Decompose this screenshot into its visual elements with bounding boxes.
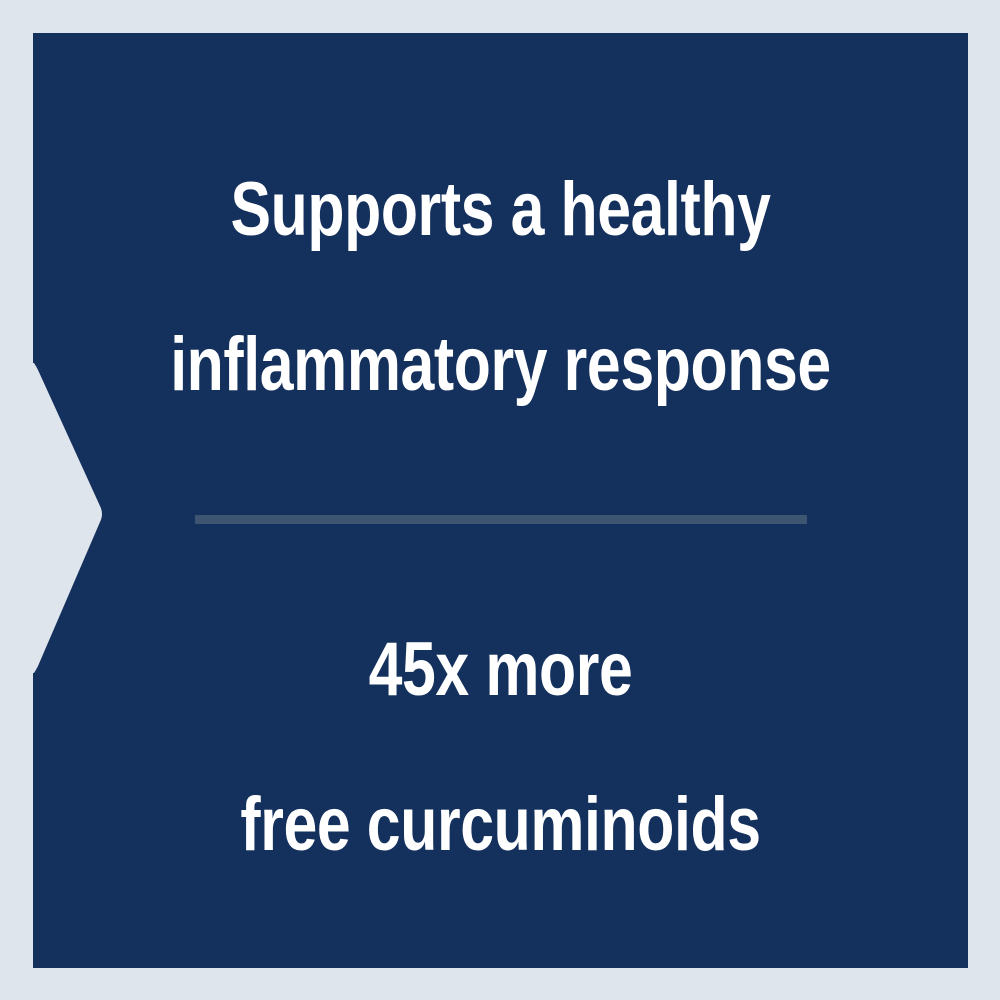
benefit-claim-line: Supports a healthy — [127, 171, 875, 249]
section-divider — [195, 515, 807, 524]
benefit-claim-line: 45x more — [127, 631, 875, 709]
benefits-panel: Supports a healthy inflammatory response… — [33, 33, 968, 968]
benefit-claim-line: free curcuminoids — [127, 786, 875, 864]
benefit-claim-inflammatory-response: Supports a healthy inflammatory response — [127, 93, 875, 481]
benefit-claim-line: inflammatory response — [127, 326, 875, 404]
product-benefits-graphic: Supports a healthy inflammatory response… — [0, 0, 1000, 1000]
benefit-claim-free-curcuminoids: 45x more free curcuminoids — [127, 554, 875, 942]
benefits-content-stack: Supports a healthy inflammatory response… — [33, 33, 968, 968]
